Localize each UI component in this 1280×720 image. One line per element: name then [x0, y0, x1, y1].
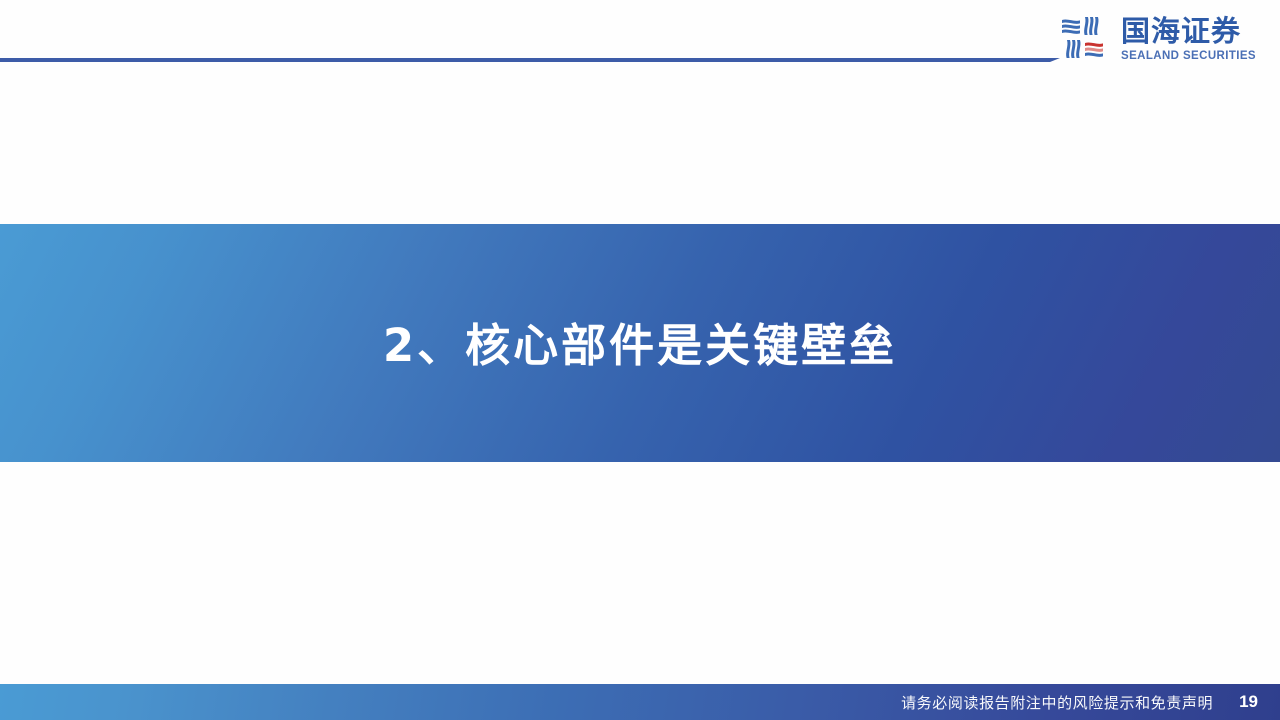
presentation-slide: 国海证券 SEALAND SECURITIES 2、核心部件是关键壁垒 请务必阅…: [0, 0, 1280, 720]
brand-name-en: SEALAND SECURITIES: [1121, 51, 1256, 63]
sealand-woven-square-logo-mark: [1059, 14, 1111, 66]
header-divider-rule: [0, 58, 1050, 62]
brand-text-block: 国海证券 SEALAND SECURITIES: [1121, 17, 1256, 63]
footer-disclaimer: 请务必阅读报告附注中的风险提示和免责声明: [901, 692, 1213, 713]
section-title: 2、核心部件是关键壁垒: [383, 309, 897, 374]
slide-header: 国海证券 SEALAND SECURITIES: [0, 0, 1280, 90]
slide-footer: 请务必阅读报告附注中的风险提示和免责声明 19: [0, 684, 1280, 720]
section-divider-banner: 2、核心部件是关键壁垒: [0, 224, 1280, 462]
brand-logo: 国海证券 SEALAND SECURITIES: [1059, 14, 1256, 66]
page-number: 19: [1239, 692, 1258, 712]
brand-name-cn: 国海证券: [1121, 17, 1256, 46]
